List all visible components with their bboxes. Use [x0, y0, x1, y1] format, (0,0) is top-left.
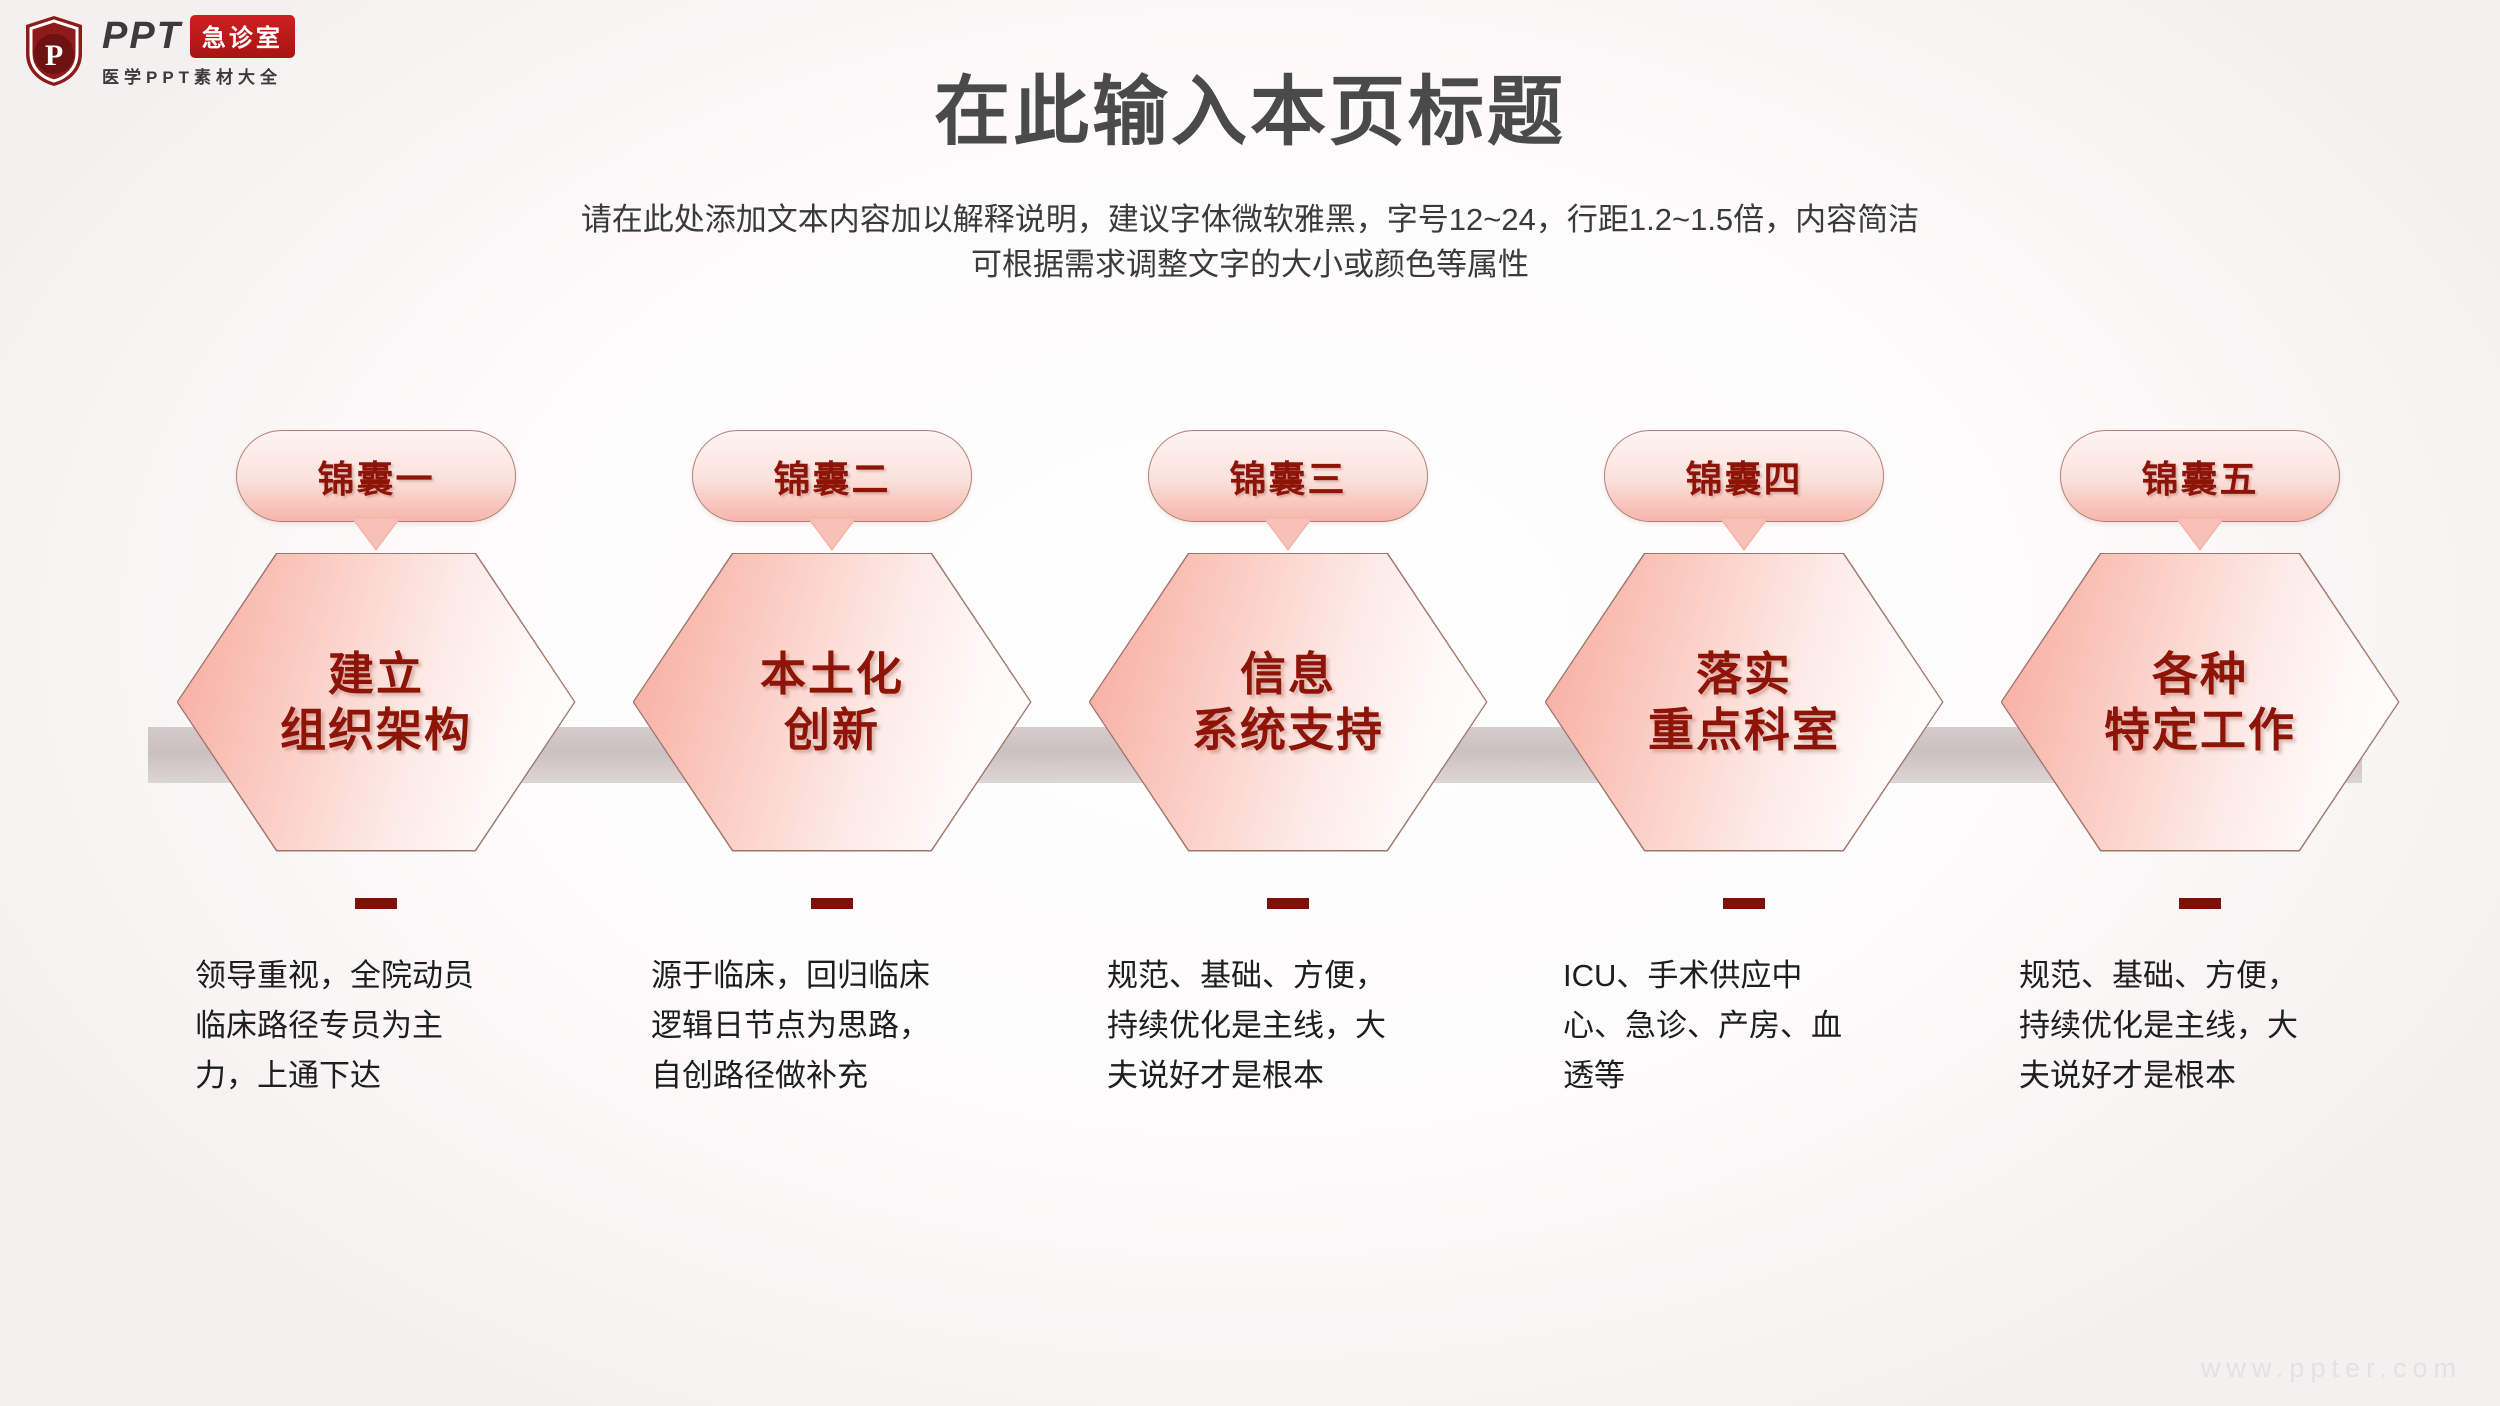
- hexagon-title-line-1: 建立: [328, 646, 424, 702]
- hexagon-face: 落实 重点科室: [1546, 554, 1942, 850]
- divider-dash: [2179, 898, 2221, 909]
- step-description-1: 领导重视，全院动员临床路径专员为主力，上通下达: [195, 951, 495, 1102]
- step-badge-1[interactable]: 锦囊一: [236, 430, 516, 522]
- divider-dash: [811, 898, 853, 909]
- step-description-3: 规范、基础、方便，持续优化是主线，大夫说好才是根本: [1107, 951, 1407, 1102]
- step-hexagon-3[interactable]: 信息 系统支持: [1090, 554, 1486, 850]
- hexagon-face: 各种 特定工作: [2002, 554, 2398, 850]
- steps-row: 锦囊一 建立 组织架构 领导重视，全院动员临床路径专员为主力，上通下达 锦囊二: [0, 0, 2500, 1406]
- badge-pointer-icon: [2176, 519, 2224, 551]
- step-description-4: ICU、手术供应中心、急诊、产房、血透等: [1563, 951, 1863, 1102]
- hexagon-title-line-1: 各种: [2152, 646, 2248, 702]
- step-column-1: 锦囊一 建立 组织架构 领导重视，全院动员临床路径专员为主力，上通下达: [150, 430, 602, 1102]
- hexagon-title-line-2: 系统支持: [1192, 702, 1384, 758]
- step-column-3: 锦囊三 信息 系统支持 规范、基础、方便，持续优化是主线，大夫说好才是根本: [1062, 430, 1514, 1102]
- hexagon-title-line-2: 特定工作: [2104, 702, 2296, 758]
- badge-pointer-icon: [808, 519, 856, 551]
- step-hexagon-4[interactable]: 落实 重点科室: [1546, 554, 1942, 850]
- step-badge-3[interactable]: 锦囊三: [1148, 430, 1428, 522]
- step-description-2: 源于临床，回归临床逻辑日节点为思路，自创路径做补充: [651, 951, 951, 1102]
- badge-pointer-icon: [1264, 519, 1312, 551]
- step-hexagon-2[interactable]: 本土化 创新: [634, 554, 1030, 850]
- step-hexagon-1[interactable]: 建立 组织架构: [178, 554, 574, 850]
- step-badge-label: 锦囊五: [2142, 449, 2259, 503]
- badge-pointer-icon: [1720, 519, 1768, 551]
- hexagon-face: 建立 组织架构: [178, 554, 574, 850]
- step-column-5: 锦囊五 各种 特定工作 规范、基础、方便，持续优化是主线，大夫说好才是根本: [1974, 430, 2426, 1102]
- badge-pointer-icon: [352, 519, 400, 551]
- step-column-2: 锦囊二 本土化 创新 源于临床，回归临床逻辑日节点为思路，自创路径做补充: [606, 430, 1058, 1102]
- step-column-4: 锦囊四 落实 重点科室 ICU、手术供应中心、急诊、产房、血透等: [1518, 430, 1970, 1102]
- step-badge-4[interactable]: 锦囊四: [1604, 430, 1884, 522]
- hexagon-title-line-1: 落实: [1696, 646, 1792, 702]
- step-description-5: 规范、基础、方便，持续优化是主线，大夫说好才是根本: [2019, 951, 2319, 1102]
- step-badge-5[interactable]: 锦囊五: [2060, 430, 2340, 522]
- step-badge-label: 锦囊三: [1230, 449, 1347, 503]
- step-badge-2[interactable]: 锦囊二: [692, 430, 972, 522]
- divider-dash: [1267, 898, 1309, 909]
- hexagon-title-line-2: 组织架构: [280, 702, 472, 758]
- step-badge-label: 锦囊二: [774, 449, 891, 503]
- hexagon-face: 信息 系统支持: [1090, 554, 1486, 850]
- slide-canvas: P PPT 急诊室 医学PPT素材大全 在此输入本页标题 请在此处添加文本内容加…: [0, 0, 2500, 1406]
- hexagon-title-line-1: 信息: [1240, 646, 1336, 702]
- hexagon-face: 本土化 创新: [634, 554, 1030, 850]
- step-badge-label: 锦囊一: [318, 449, 435, 503]
- hexagon-title-line-2: 重点科室: [1648, 702, 1840, 758]
- step-hexagon-5[interactable]: 各种 特定工作: [2002, 554, 2398, 850]
- step-badge-label: 锦囊四: [1686, 449, 1803, 503]
- footer-watermark: www.ppter.com: [2201, 1353, 2462, 1384]
- divider-dash: [355, 898, 397, 909]
- hexagon-title-line-1: 本土化: [760, 646, 904, 702]
- hexagon-title-line-2: 创新: [784, 702, 880, 758]
- divider-dash: [1723, 898, 1765, 909]
